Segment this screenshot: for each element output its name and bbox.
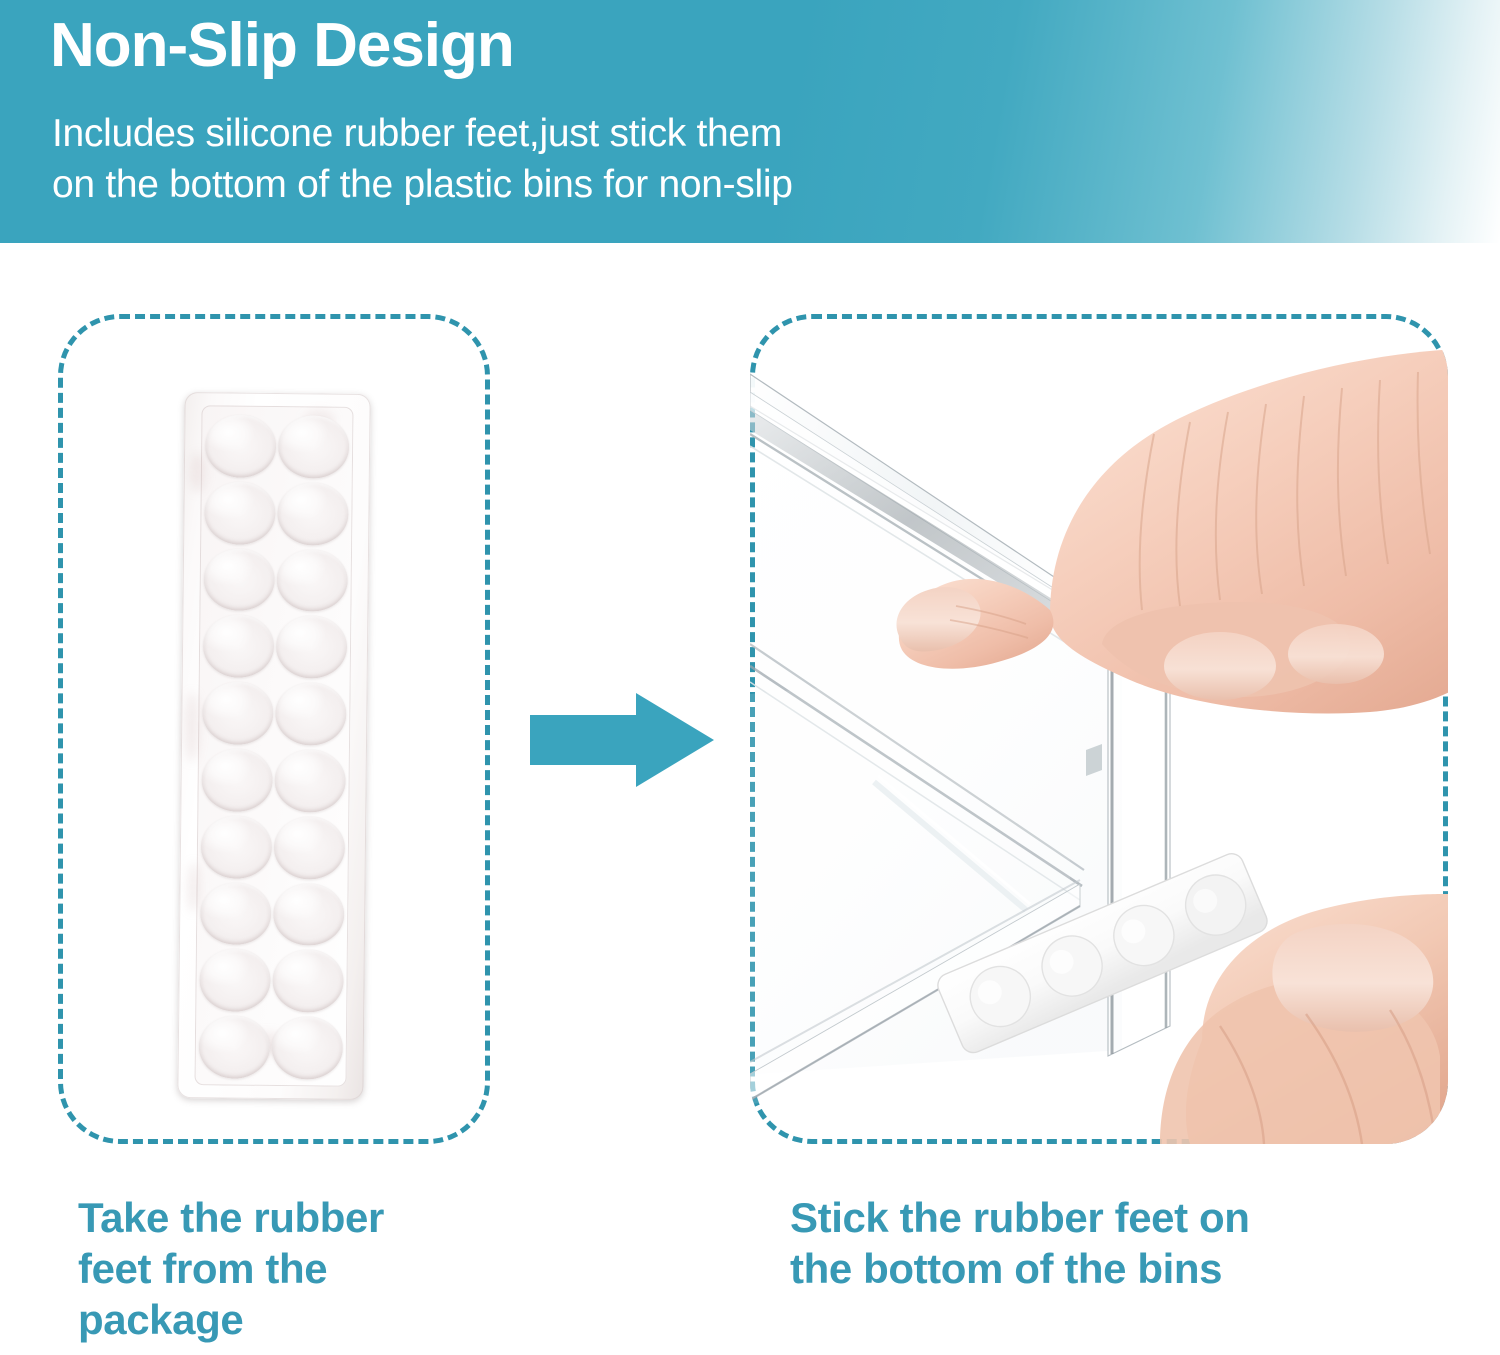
- header-subtitle: Includes silicone rubber feet,just stick…: [52, 108, 793, 211]
- blister-pack-image: [177, 392, 370, 1100]
- rubber-foot: [205, 414, 277, 478]
- rubber-foot: [272, 949, 344, 1013]
- step-1-caption: Take the rubber feet from the package: [78, 1192, 508, 1346]
- rubber-foot: [274, 749, 346, 813]
- rubber-foot: [201, 748, 273, 812]
- rubber-foot: [276, 615, 348, 679]
- rubber-foot: [199, 1015, 271, 1079]
- rubber-foot: [275, 682, 347, 746]
- rubber-foot: [273, 883, 345, 947]
- rubber-foot: [201, 815, 273, 879]
- hand-holding-rubber-feet-strip: [750, 314, 1448, 1144]
- rubber-foot: [278, 415, 350, 479]
- rubber-foot: [203, 548, 275, 612]
- rubber-foot: [199, 949, 271, 1013]
- arrow-right-icon: [530, 693, 714, 787]
- rubber-foot: [272, 1016, 344, 1080]
- header-banner: Non-Slip Design Includes silicone rubber…: [0, 0, 1500, 243]
- rubber-foot: [200, 882, 272, 946]
- step-2-caption: Stick the rubber feet on the bottom of t…: [790, 1192, 1450, 1294]
- rubber-feet-grid: [199, 414, 350, 1079]
- rubber-foot: [276, 549, 348, 613]
- step-2-illustration: [750, 314, 1448, 1144]
- rubber-foot: [202, 681, 274, 745]
- rubber-foot: [203, 615, 275, 679]
- page-title: Non-Slip Design: [50, 12, 514, 80]
- rubber-foot: [274, 816, 346, 880]
- rubber-foot: [277, 482, 349, 546]
- rubber-foot: [204, 481, 276, 545]
